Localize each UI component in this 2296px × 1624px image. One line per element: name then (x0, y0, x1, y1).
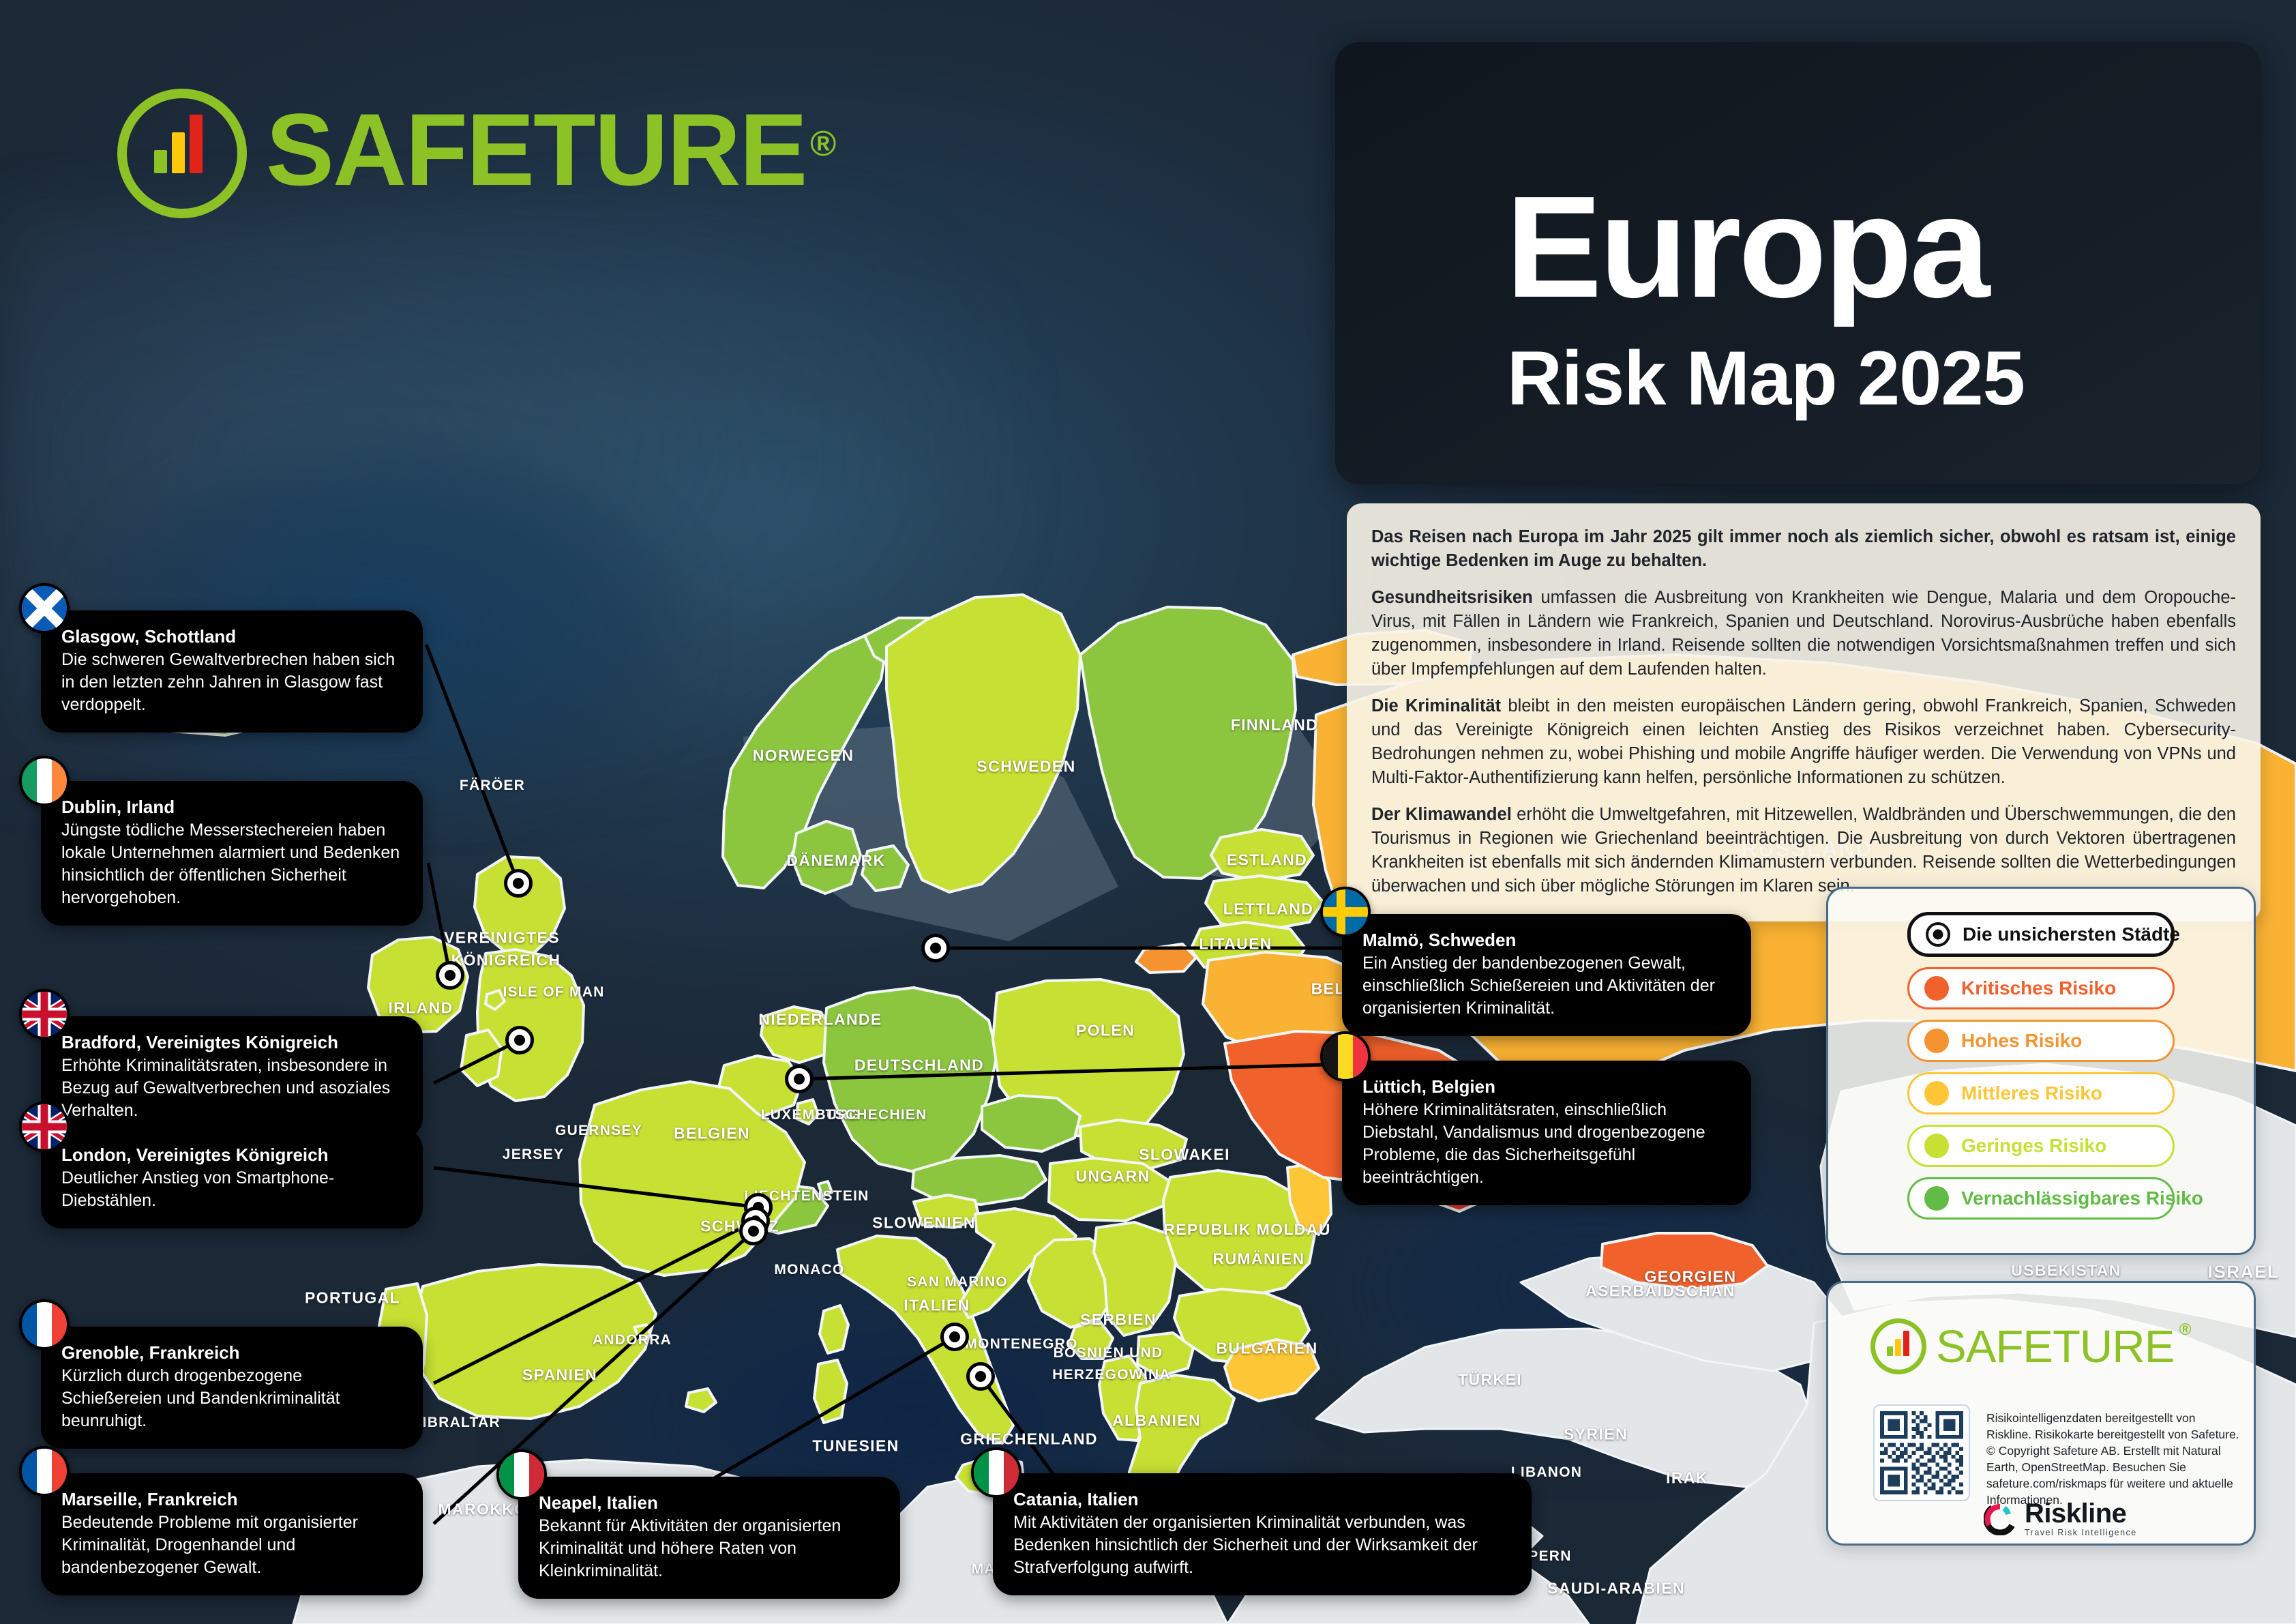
callout-city-name: Lüttich, Belgien (1362, 1076, 1731, 1097)
overview-health: Gesundheitsrisiken umfassen die Ausbreit… (1371, 586, 2236, 681)
legend-item-label: Mittleres Risiko (1961, 1082, 2102, 1104)
legend-item-1[interactable]: Hohes Risiko (1907, 1020, 2175, 1062)
overview-climate: Der Klimawandel erhöht die Umweltgefahre… (1371, 803, 2236, 898)
callout-city-name: Neapel, Italien (539, 1492, 880, 1514)
callout-city-name: Dublin, Irland (61, 796, 402, 818)
legend-swatch-icon (1924, 1081, 1949, 1106)
overview-crime: Die Kriminalität bleibt in den meisten e… (1371, 694, 2236, 790)
callout-london[interactable]: London, Vereinigtes KönigreichDeutlicher… (41, 1129, 423, 1228)
brand-wordmark: SAFETURE ® (266, 89, 806, 201)
city-marker-malmö[interactable] (921, 934, 950, 962)
riskline-mark-icon (1984, 1503, 2016, 1535)
footer-card: SAFETURE ® (1826, 1281, 2256, 1546)
crime-heading: Die Kriminalität (1371, 696, 1501, 715)
legend-item-3[interactable]: Geringes Risiko (1907, 1125, 2175, 1167)
flag-pin-fl-it (971, 1447, 1022, 1498)
overview-text-panel: Das Reisen nach Europa im Jahr 2025 gilt… (1347, 503, 2261, 921)
city-marker-neapel[interactable] (940, 1323, 969, 1351)
legend-item-label: Vernachlässigbares Risiko (1961, 1187, 2203, 1209)
footer-attribution: Risikointelligenzdaten bereitgestellt vo… (1986, 1410, 2240, 1508)
city-marker-lüttich[interactable] (785, 1065, 814, 1093)
callout-body: Höhere Kriminalitätsraten, einschließlic… (1362, 1099, 1731, 1189)
callout-body: Deutlicher Anstieg von Smartphone-Diebst… (61, 1167, 402, 1212)
callout-body: Die schweren Gewaltverbrechen haben sich… (61, 649, 402, 716)
safeture-bars-circle-icon (1870, 1318, 1926, 1374)
callout-body: Bekannt für Aktivitäten der organisierte… (539, 1515, 880, 1582)
registered-mark: ® (810, 93, 835, 195)
flag-pin-fl-uk (19, 1102, 70, 1152)
callout-body: Jüngste tödliche Messerstechereien haben… (61, 819, 402, 909)
callout-l-ttich[interactable]: Lüttich, BelgienHöhere Kriminalitätsrate… (1342, 1061, 1751, 1205)
flag-icon (1323, 889, 1368, 934)
flag-pin-fl-fr (19, 1446, 70, 1496)
city-marker-glasgow[interactable] (504, 869, 533, 898)
legend-item-label: Geringes Risiko (1961, 1135, 2106, 1157)
callout-city-name: Grenoble, Frankreich (61, 1342, 402, 1363)
callout-body: Bedeutende Probleme mit organisierter Kr… (61, 1511, 402, 1579)
flag-icon (22, 992, 67, 1037)
callout-body: Mit Aktivitäten der organisierten Krimin… (1013, 1511, 1511, 1579)
callout-neapel[interactable]: Neapel, ItalienBekannt für Aktivitäten d… (518, 1477, 900, 1599)
callout-catania[interactable]: Catania, ItalienMit Aktivitäten der orga… (993, 1473, 1532, 1595)
title-card: Europa Risk Map 2025 (1335, 42, 2261, 484)
callout-city-name: Marseille, Frankreich (61, 1488, 402, 1510)
riskline-name: Riskline (2025, 1500, 2137, 1527)
overview-lead: Das Reisen nach Europa im Jahr 2025 gilt… (1371, 525, 2236, 573)
flag-icon (22, 1449, 67, 1494)
city-marker-marseille[interactable] (739, 1217, 768, 1245)
callout-marseille[interactable]: Marseille, FrankreichBedeutende Probleme… (41, 1473, 423, 1595)
legend-swatch-icon (1924, 1029, 1949, 1053)
legend-item-4[interactable]: Vernachlässigbares Risiko (1907, 1177, 2175, 1220)
safeture-bars-circle-icon (117, 89, 247, 218)
flag-icon (22, 1104, 67, 1149)
footer-safeture-logo: SAFETURE ® (1870, 1318, 2174, 1374)
page-title: Europa (1506, 179, 1987, 315)
flag-icon (22, 586, 67, 631)
legend-item-2[interactable]: Mittleres Risiko (1907, 1072, 2175, 1114)
callout-bradford[interactable]: Bradford, Vereinigtes KönigreichErhöhte … (41, 1016, 423, 1138)
legend-header-label: Die unsichersten Städte (1963, 924, 2180, 945)
flag-icon (22, 1302, 67, 1347)
city-marker-catania[interactable] (966, 1362, 995, 1391)
legend-item-label: Kritisches Risiko (1961, 977, 2116, 999)
flag-pin-fl-be (1320, 1031, 1371, 1082)
brand-name: SAFETURE (266, 92, 806, 207)
qr-code-icon[interactable] (1873, 1404, 1970, 1501)
flag-pin-fl-se (1320, 887, 1371, 937)
flag-pin-fl-it (496, 1449, 547, 1500)
flag-pin-fl-uk (19, 989, 70, 1039)
callout-grenoble[interactable]: Grenoble, FrankreichKürzlich durch droge… (41, 1327, 423, 1449)
callout-city-name: Catania, Italien (1013, 1488, 1511, 1510)
city-marker-dublin[interactable] (436, 961, 464, 990)
riskline-logo: Riskline Travel Risk Intelligence (1984, 1500, 2137, 1537)
callout-glasgow[interactable]: Glasgow, SchottlandDie schweren Gewaltve… (41, 610, 423, 733)
infographic-canvas: ISLANDFÄRÖERVEREINIGTESKÖNIGREICHIRLANDI… (0, 0, 2296, 1624)
legend-item-0[interactable]: Kritisches Risiko (1907, 967, 2175, 1009)
riskline-tagline: Travel Risk Intelligence (2025, 1528, 2137, 1537)
callout-city-name: London, Vereinigtes Königreich (61, 1144, 402, 1166)
footer-brand-wordmark: SAFETURE ® (1936, 1320, 2174, 1373)
flag-icon (22, 758, 67, 803)
callout-city-name: Malmö, Schweden (1362, 929, 1731, 951)
callout-body: Ein Anstieg der bandenbezogenen Gewalt, … (1362, 952, 1731, 1020)
safeture-logo: SAFETURE ® (117, 89, 806, 218)
flag-icon (499, 1452, 544, 1497)
risk-legend: Die unsichersten Städte Kritisches Risik… (1826, 887, 2256, 1255)
page-subtitle: Risk Map 2025 (1507, 341, 2025, 416)
flag-pin-fl-fr (19, 1299, 70, 1350)
callout-dublin[interactable]: Dublin, IrlandJüngste tödliche Messerste… (41, 781, 423, 926)
city-marker-icon (1926, 922, 1950, 947)
legend-header-unsafe-cities: Die unsichersten Städte (1907, 912, 2175, 957)
flag-pin-fl-scot (19, 583, 70, 634)
legend-swatch-icon (1924, 1186, 1949, 1211)
callout-malm-[interactable]: Malmö, SchwedenEin Anstieg der bandenbez… (1342, 914, 1751, 1036)
callout-city-name: Bradford, Vereinigtes Königreich (61, 1031, 402, 1053)
callout-body: Erhöhte Kriminalitätsraten, insbesondere… (61, 1054, 402, 1122)
health-heading: Gesundheitsrisiken (1371, 588, 1533, 607)
legend-item-label: Hohes Risiko (1961, 1030, 2082, 1052)
callout-body: Kürzlich durch drogenbezogene Schießerei… (61, 1365, 402, 1432)
flag-pin-fl-ie (19, 756, 70, 806)
flag-icon (1323, 1034, 1368, 1079)
city-marker-bradford[interactable] (505, 1026, 534, 1054)
climate-heading: Der Klimawandel (1371, 805, 1512, 824)
legend-swatch-icon (1924, 1134, 1949, 1158)
legend-swatch-icon (1924, 976, 1949, 1001)
callout-city-name: Glasgow, Schottland (61, 625, 402, 647)
registered-mark: ® (2179, 1320, 2191, 1340)
flag-icon (974, 1450, 1019, 1495)
